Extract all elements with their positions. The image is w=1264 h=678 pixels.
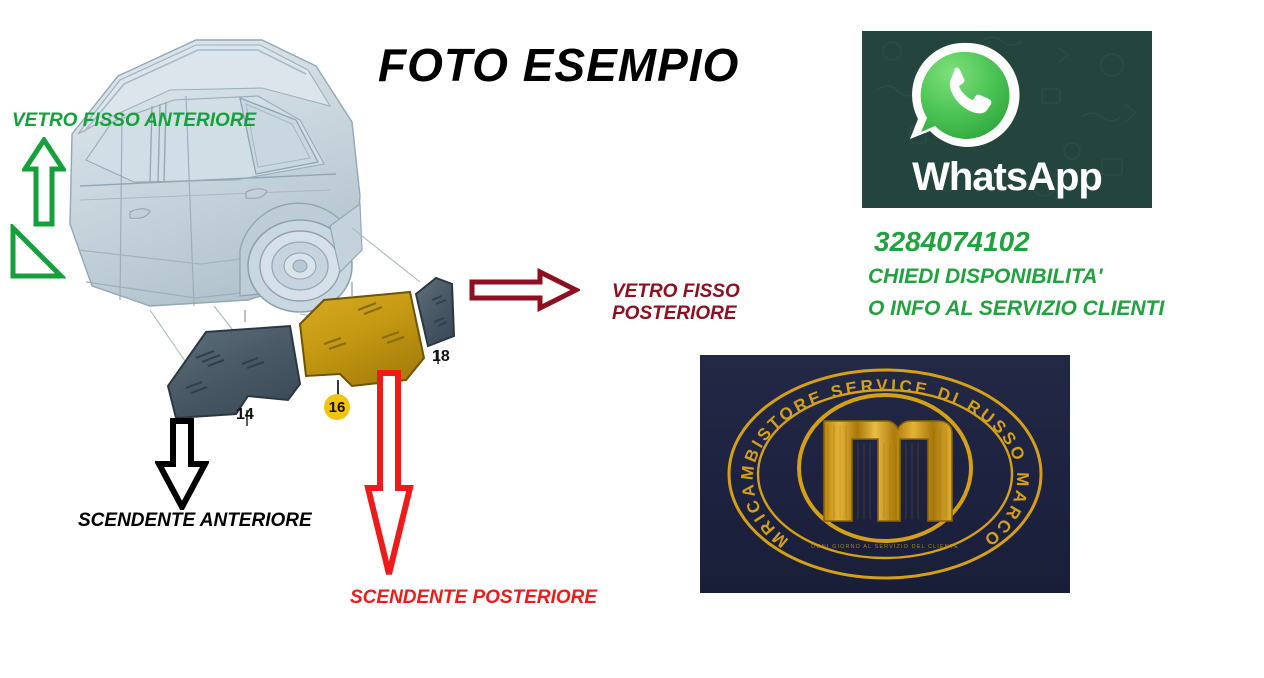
shop-logo: MRICAMBISTORE SERVICE DI RUSSO MARCO OGN… (700, 355, 1070, 593)
callout-scendente-posteriore: SCENDENTE POSTERIORE (350, 587, 597, 609)
callout-scendente-anteriore: SCENDENTE ANTERIORE (78, 510, 312, 532)
contact-phone-number[interactable]: 3284074102 (874, 226, 1030, 258)
triangle-icon (8, 224, 66, 287)
down-arrow-icon-black (155, 418, 209, 515)
contact-availability-text: CHIEDI DISPONIBILITA' (868, 265, 1102, 289)
part-number-18: 18 (432, 348, 450, 366)
callout-vetro-fisso-posteriore: VETRO FISSO POSTERIORE (612, 281, 740, 326)
contact-customer-service-text: O INFO AL SERVIZIO CLIENTI (868, 297, 1164, 321)
whatsapp-banner[interactable]: WhatsApp (862, 31, 1152, 208)
logo-small-print: OGNI GIORNO AL SERVIZIO DEL CLIENTE (811, 544, 959, 550)
callout-vetro-fisso-anteriore: VETRO FISSO ANTERIORE (12, 110, 256, 132)
part-number-14: 14 (236, 406, 254, 424)
part-number-16-badge: 16 (324, 394, 350, 420)
car-body-outline (70, 40, 362, 312)
up-arrow-icon (22, 137, 66, 232)
callout-line-1: VETRO FISSO (612, 281, 740, 303)
callout-line-2: POSTERIORE (612, 303, 740, 325)
poster-canvas: 14 16 17 18 FOTO ESEMPIO VETRO FISSO ANT… (0, 0, 1264, 678)
right-arrow-icon (468, 268, 580, 317)
down-arrow-icon-red (362, 370, 414, 583)
logo-monogram (824, 421, 952, 521)
page-title: FOTO ESEMPIO (378, 38, 739, 92)
part-glass-14 (168, 310, 300, 418)
whatsapp-wordmark: WhatsApp (862, 155, 1152, 200)
